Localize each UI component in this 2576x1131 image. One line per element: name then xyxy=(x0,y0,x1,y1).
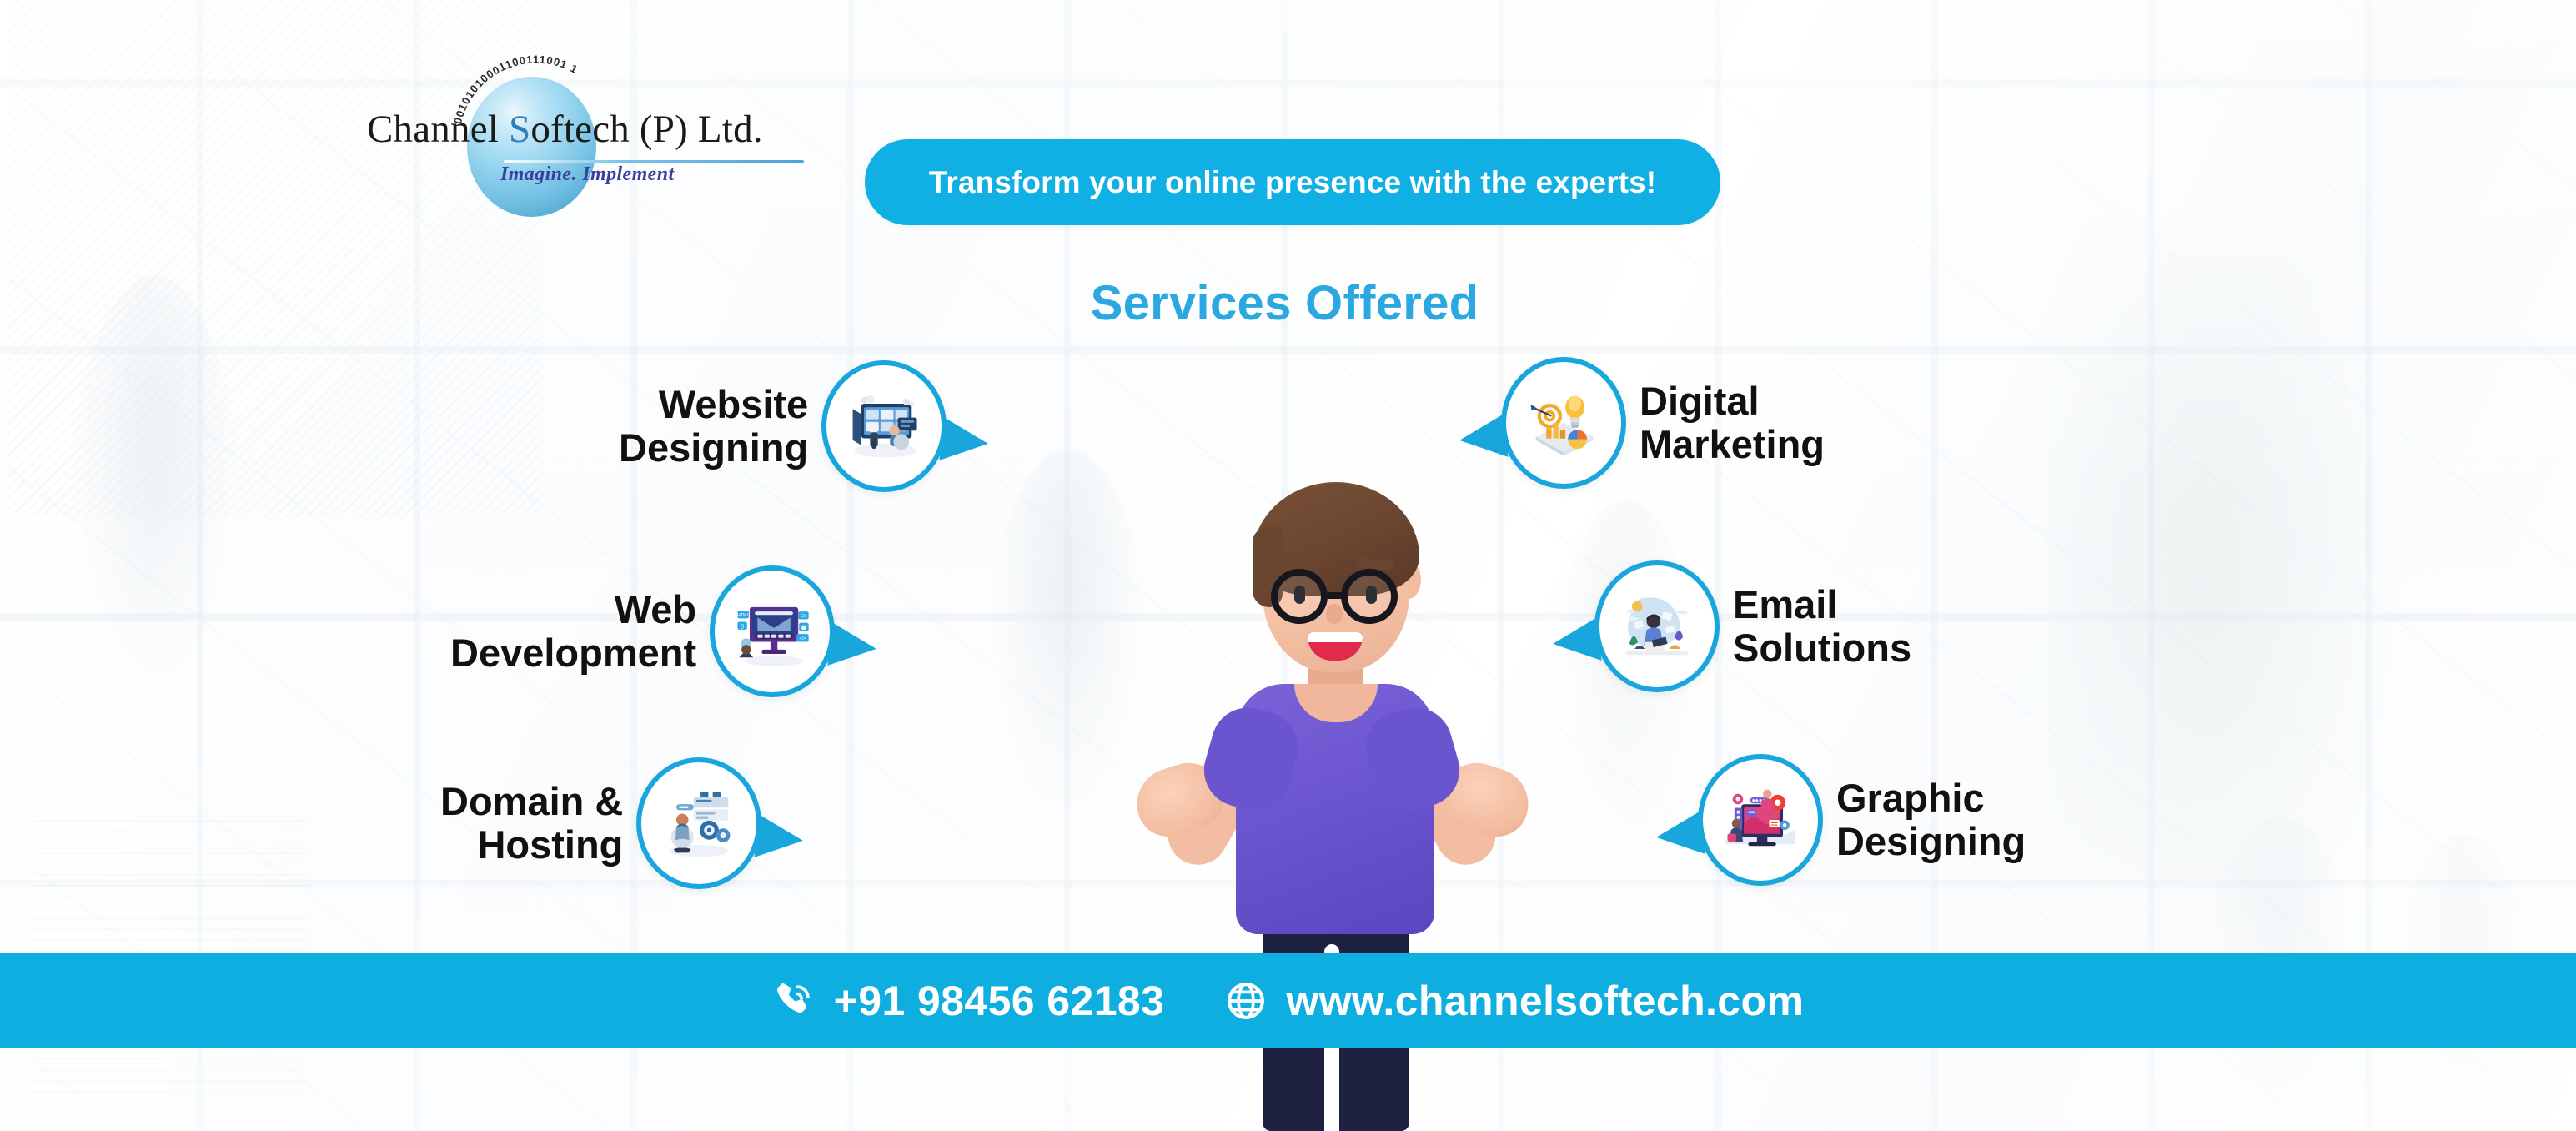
service-label: Web Development xyxy=(450,588,696,674)
character-nose xyxy=(1326,604,1343,624)
service-item-web-development[interactable]: Web Development HTML {} xyxy=(450,565,835,697)
page-title-text: Services Offered xyxy=(1091,275,1479,331)
phone-ring-icon xyxy=(772,979,816,1023)
service-label: Digital Marketing xyxy=(1640,380,1825,465)
contact-website[interactable]: www.channelsoftech.com xyxy=(1224,977,1804,1025)
logo-wordmark-part2: oftech (P) Ltd. xyxy=(530,108,762,151)
bubble-pointer xyxy=(755,814,806,862)
contact-bar: +91 98456 62183 www.channelsoftech.com xyxy=(0,953,2576,1048)
service-item-domain-hosting[interactable]: Domain & Hosting xyxy=(440,757,761,889)
website-designing-icon xyxy=(841,383,927,470)
character-glasses-bridge xyxy=(1326,592,1344,599)
service-item-email-solutions[interactable]: Email Solutions xyxy=(1594,560,1911,692)
service-icon-bubble xyxy=(636,757,761,889)
graphic-designing-icon xyxy=(1717,777,1804,863)
service-icon-bubble xyxy=(1594,560,1720,692)
headline-text: Transform your online presence with the … xyxy=(891,165,1695,199)
logo-tagline: Imagine. Implement xyxy=(500,163,675,186)
web-development-icon: HTML {} C# </> xyxy=(729,588,816,675)
email-solutions-icon xyxy=(1614,583,1700,670)
bubble-pointer xyxy=(940,417,991,465)
domain-hosting-icon xyxy=(655,780,742,867)
service-label: Email Solutions xyxy=(1733,583,1911,669)
logo-wordmark-highlight: S xyxy=(509,108,530,151)
company-logo: 00101010001100111001 1 Channel Softech (… xyxy=(367,83,801,183)
service-label: Domain & Hosting xyxy=(440,780,623,866)
service-item-digital-marketing[interactable]: Digital Marketing xyxy=(1501,357,1825,489)
service-item-graphic-designing[interactable]: Graphic Designing xyxy=(1698,754,2026,886)
character-teeth xyxy=(1308,632,1363,642)
service-icon-bubble xyxy=(1698,754,1823,886)
contact-phone[interactable]: +91 98456 62183 xyxy=(772,977,1165,1025)
phone-number: +91 98456 62183 xyxy=(834,977,1165,1025)
bubble-pointer xyxy=(828,622,879,671)
logo-wordmark-part1: Channel xyxy=(367,108,509,151)
bubble-pointer xyxy=(1550,617,1601,666)
svg-text:{}: {} xyxy=(741,624,744,630)
page-title: Services Offered xyxy=(0,275,2576,331)
svg-text:</>: </> xyxy=(800,636,806,641)
headline-badge: Transform your online presence with the … xyxy=(865,139,1720,225)
character-glasses-left xyxy=(1271,569,1328,624)
services-banner: 00101010001100111001 1 Channel Softech (… xyxy=(0,0,2576,1131)
bubble-pointer xyxy=(1654,811,1705,859)
svg-text:C#: C# xyxy=(801,614,807,619)
logo-wordmark: Channel Softech (P) Ltd. xyxy=(367,107,763,152)
service-icon-bubble: HTML {} C# </> xyxy=(710,565,835,697)
service-icon-bubble xyxy=(821,360,947,492)
character-glasses-right xyxy=(1341,569,1398,624)
globe-icon xyxy=(1224,979,1268,1023)
website-url: www.channelsoftech.com xyxy=(1286,977,1804,1025)
service-label: Graphic Designing xyxy=(1836,777,2026,862)
service-item-website-designing[interactable]: Website Designing xyxy=(619,360,947,492)
service-label: Website Designing xyxy=(619,383,808,469)
svg-text:HTML: HTML xyxy=(737,613,750,618)
